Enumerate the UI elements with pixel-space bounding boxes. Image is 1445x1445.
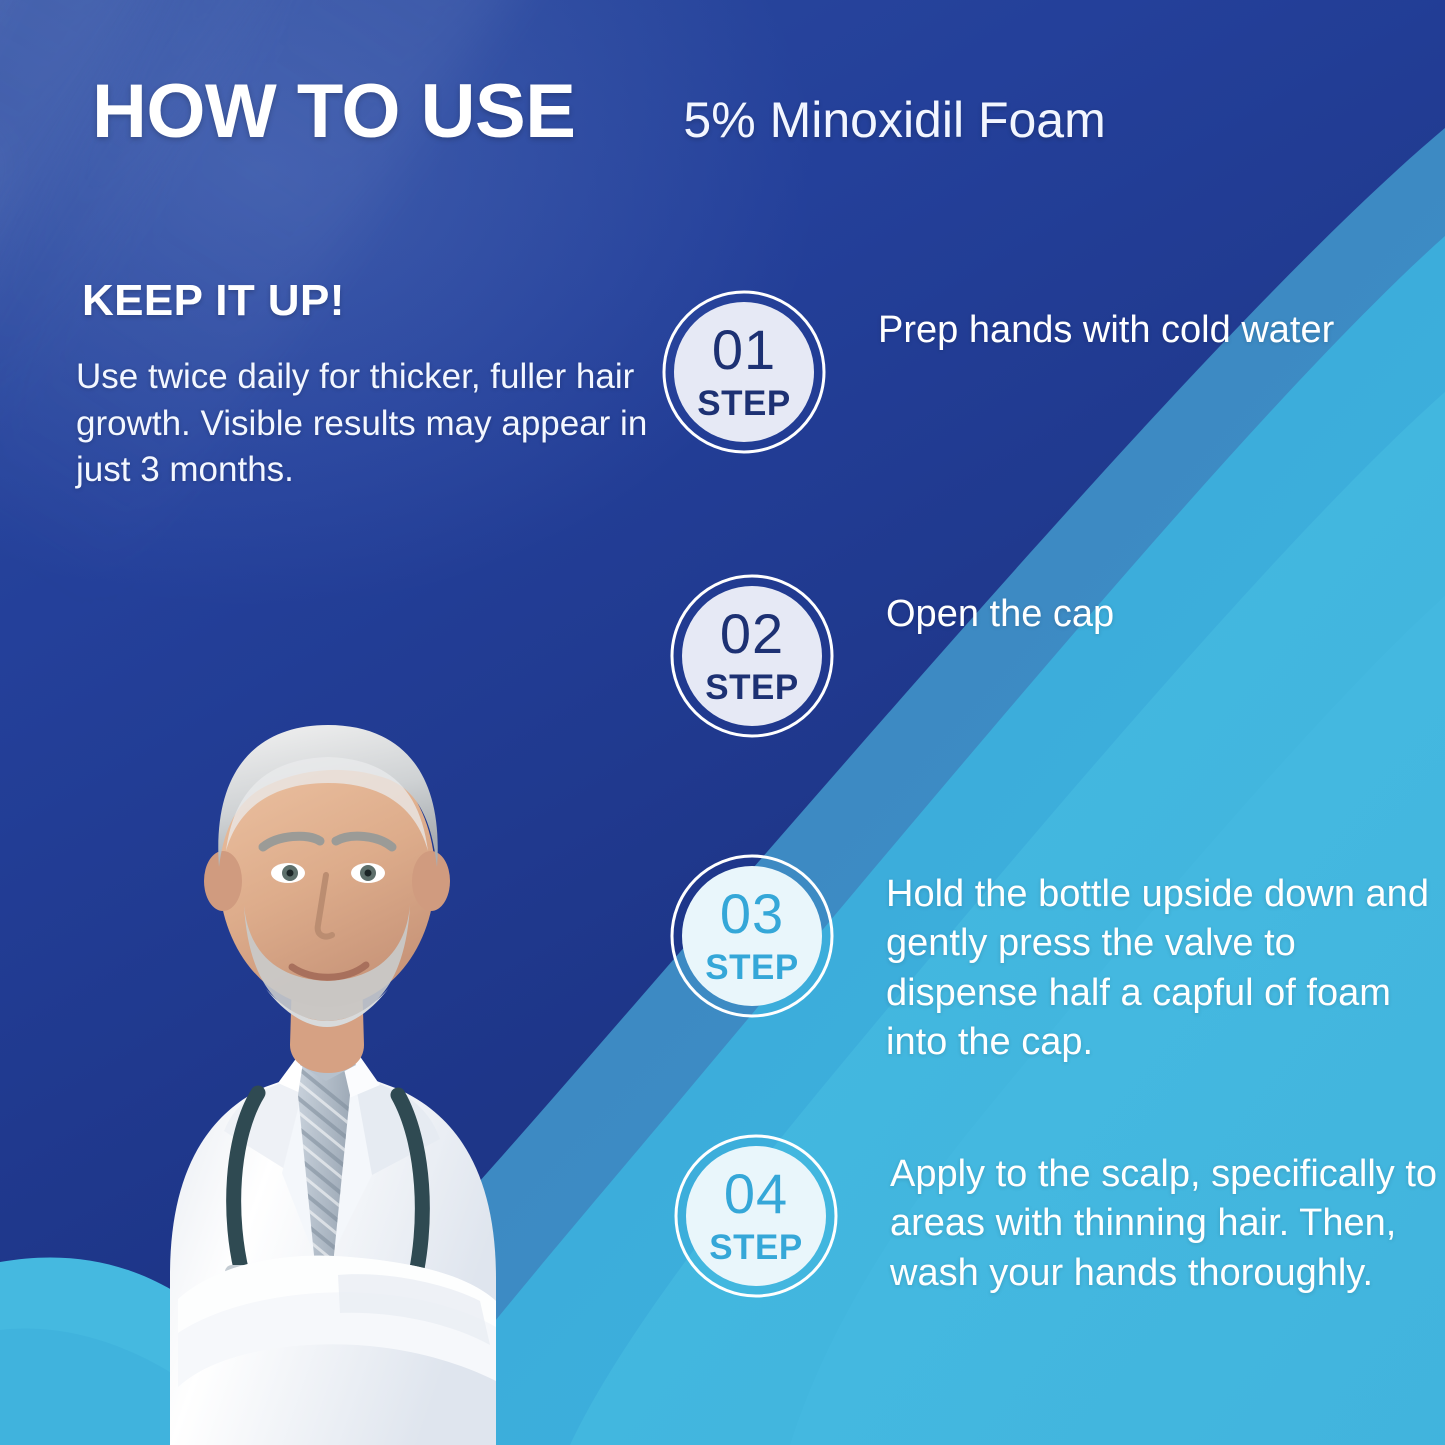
step-number-02: 02 bbox=[668, 606, 836, 662]
step-item-01[interactable]: 01 STEP Prep hands with cold water bbox=[660, 288, 1334, 456]
step-word-02: STEP bbox=[668, 670, 836, 705]
step-text-02: Open the cap bbox=[886, 572, 1114, 639]
step-number-04: 04 bbox=[672, 1166, 840, 1222]
step-text-04: Apply to the scalp, specifically to area… bbox=[890, 1132, 1445, 1298]
infographic-canvas: HOW TO USE 5% Minoxidil Foam KEEP IT UP!… bbox=[0, 0, 1445, 1445]
step-badge-03: 03 STEP bbox=[668, 852, 836, 1020]
step-item-04[interactable]: 04 STEP Apply to the scalp, specifically… bbox=[672, 1132, 1445, 1300]
step-item-03[interactable]: 03 STEP Hold the bottle upside down and … bbox=[668, 852, 1445, 1068]
step-number-01: 01 bbox=[660, 322, 828, 378]
step-word-03: STEP bbox=[668, 950, 836, 985]
step-word-01: STEP bbox=[660, 386, 828, 421]
step-badge-04: 04 STEP bbox=[672, 1132, 840, 1300]
step-number-03: 03 bbox=[668, 886, 836, 942]
step-word-04: STEP bbox=[672, 1230, 840, 1265]
step-badge-01: 01 STEP bbox=[660, 288, 828, 456]
step-item-02[interactable]: 02 STEP Open the cap bbox=[668, 572, 1114, 740]
step-text-03: Hold the bottle upside down and gently p… bbox=[886, 852, 1445, 1068]
steps-list: 01 STEP Prep hands with cold water 02 ST… bbox=[0, 0, 1445, 1445]
step-badge-02: 02 STEP bbox=[668, 572, 836, 740]
step-text-01: Prep hands with cold water bbox=[878, 288, 1334, 355]
